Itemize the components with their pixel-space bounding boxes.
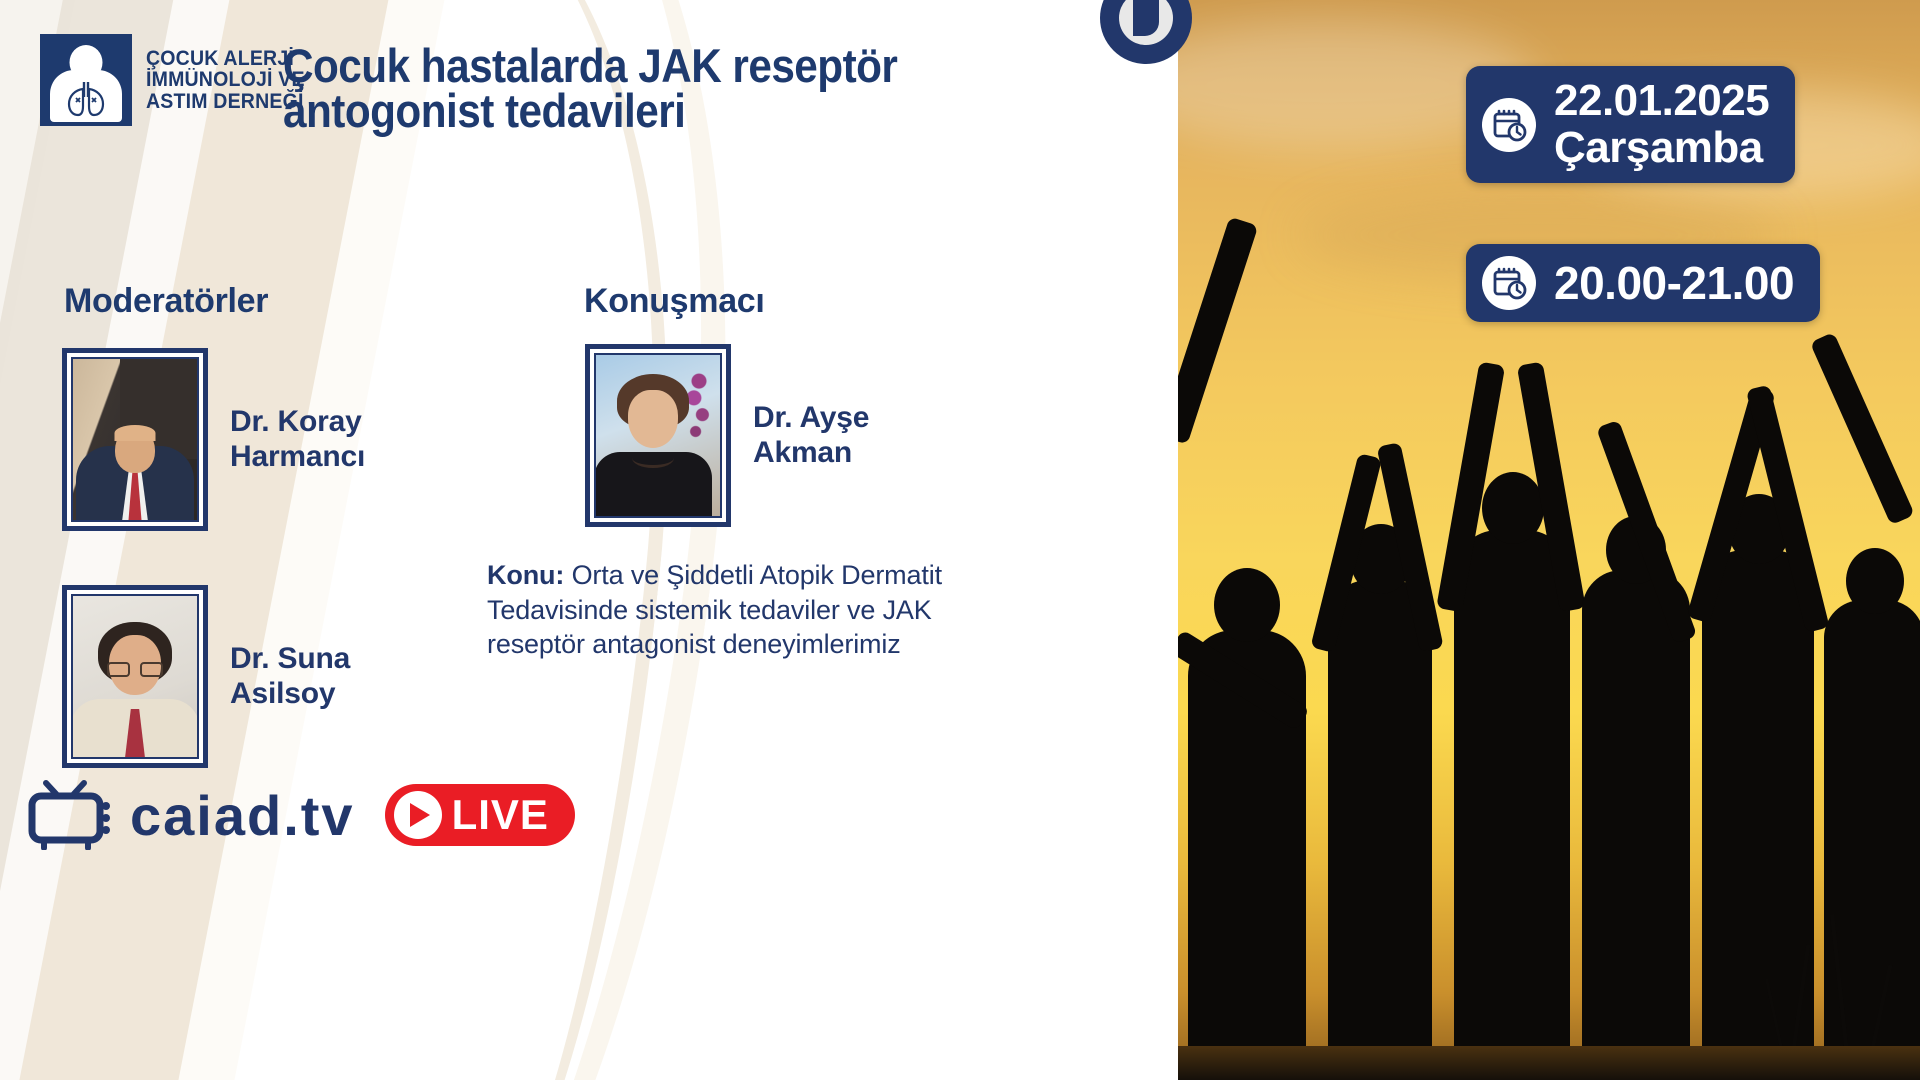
television-icon <box>28 780 114 850</box>
torso-lungs-icon <box>40 34 132 126</box>
date-line-2: Çarşamba <box>1554 125 1769 172</box>
date-text: 22.01.2025 Çarşamba <box>1554 78 1769 171</box>
topic-block: Konu: Orta ve Şiddetli Atopik Dermatit T… <box>487 558 965 662</box>
name-line-1: Dr. Koray <box>230 405 365 439</box>
calendar-clock-icon <box>1482 98 1536 152</box>
moderator-name-2: Dr. Suna Asilsoy <box>230 642 350 710</box>
time-badge: 20.00-21.00 <box>1466 244 1820 322</box>
live-badge[interactable]: LIVE <box>385 784 575 846</box>
logo-line-1: ÇOCUK ALERJİ <box>146 48 305 69</box>
moderator-card-1: Dr. Koray Harmancı <box>62 348 365 531</box>
play-icon <box>394 791 442 839</box>
name-line-2: Asilsoy <box>230 677 350 711</box>
logo-line-2: İMMÜNOLOJİ VE <box>146 69 305 90</box>
avatar <box>62 348 208 531</box>
title-line-1: Çocuk hastalarda JAK reseptör <box>283 43 913 90</box>
avatar <box>585 344 731 527</box>
topic-label: Konu: <box>487 560 564 590</box>
speaker-card: Dr. Ayşe Akman <box>585 344 869 527</box>
name-line-1: Dr. Suna <box>230 642 350 676</box>
name-line-2: Harmancı <box>230 440 365 474</box>
date-badge: 22.01.2025 Çarşamba <box>1466 66 1795 183</box>
date-line-1: 22.01.2025 <box>1554 76 1769 125</box>
organization-logo: ÇOCUK ALERJİ İMMÜNOLOJİ VE ASTIM DERNEĞİ <box>40 34 317 126</box>
left-content-panel: ÇOCUK ALERJİ İMMÜNOLOJİ VE ASTIM DERNEĞİ… <box>0 0 1178 1080</box>
calendar-clock-icon <box>1482 256 1536 310</box>
brand-name[interactable]: caiad.tv <box>130 783 355 848</box>
name-line-2: Akman <box>753 436 869 470</box>
live-label: LIVE <box>452 791 549 839</box>
brand-bar: caiad.tv LIVE <box>28 780 575 850</box>
webinar-poster: ÇOCUK ALERJİ İMMÜNOLOJİ VE ASTIM DERNEĞİ… <box>0 0 1920 1080</box>
moderator-card-2: Dr. Suna Asilsoy <box>62 585 350 768</box>
speaker-name: Dr. Ayşe Akman <box>753 401 869 469</box>
ground-decor <box>1178 1046 1920 1080</box>
moderator-name-1: Dr. Koray Harmancı <box>230 405 365 473</box>
logo-line-3: ASTIM DERNEĞİ <box>146 91 305 112</box>
time-text: 20.00-21.00 <box>1554 259 1794 308</box>
lungs-glyph <box>63 80 109 118</box>
page-title: Çocuk hastalarda JAK reseptör antogonist… <box>283 43 913 134</box>
moderators-heading: Moderatörler <box>64 282 268 321</box>
name-line-1: Dr. Ayşe <box>753 401 869 435</box>
title-line-2: antogonist tedavileri <box>283 88 913 135</box>
speaker-heading: Konuşmacı <box>584 282 765 321</box>
avatar <box>62 585 208 768</box>
